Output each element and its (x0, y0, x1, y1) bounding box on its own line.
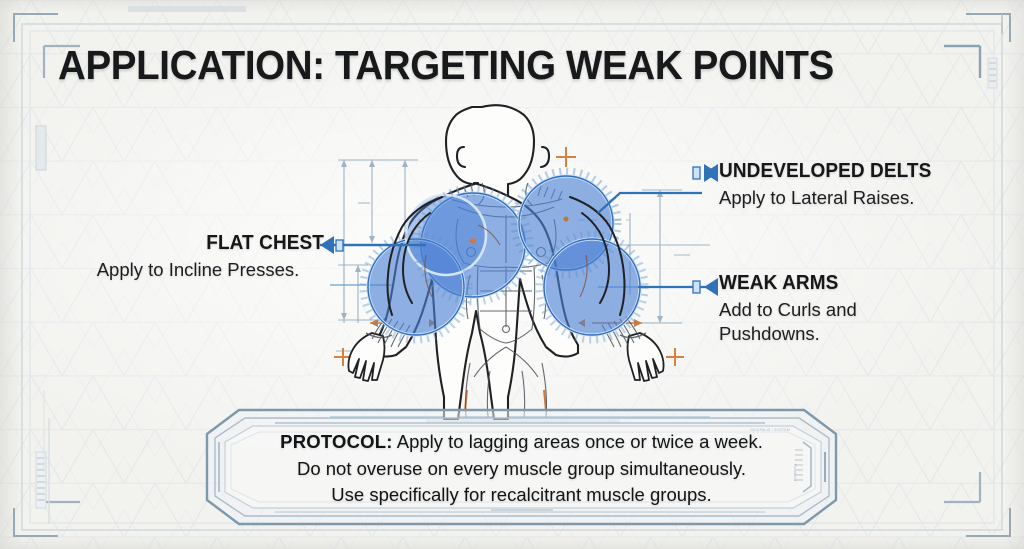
protocol-panel: OCCIPALIS / SYSTEM Fluidbuild PROTOCOL: … (205, 408, 838, 526)
protocol-line-2: Do not overuse on every muscle group sim… (205, 456, 838, 483)
callout-undeveloped-delts: UNDEVELOPED DELTS Apply to Lateral Raise… (719, 160, 1009, 210)
protocol-line-3: Use specifically for recalcitrant muscle… (205, 482, 838, 509)
callout-undeveloped-delts-detail: Apply to Lateral Raises. (719, 186, 1009, 210)
callout-undeveloped-delts-heading: UNDEVELOPED DELTS (719, 160, 995, 183)
protocol-line-1: PROTOCOL: Apply to lagging areas once or… (205, 429, 838, 456)
callout-weak-arms-heading: WEAK ARMS (719, 272, 995, 295)
protocol-line-1-rest: Apply to lagging areas once or twice a w… (393, 431, 763, 452)
callout-flat-chest-heading: FLAT CHEST (85, 232, 324, 255)
callout-weak-arms-detail-line2: Pushdowns. (719, 322, 1009, 346)
callout-weak-arms: WEAK ARMS Add to Curls and Pushdowns. (719, 272, 1009, 346)
callout-weak-arms-detail-line1: Add to Curls and (719, 298, 1009, 322)
page-title: APPLICATION: TARGETING WEAK POINTS (58, 42, 834, 89)
callout-flat-chest-detail: Apply to Incline Presses. (72, 258, 324, 282)
callout-weak-arms-detail: Add to Curls and Pushdowns. (719, 298, 1009, 346)
protocol-text: PROTOCOL: Apply to lagging areas once or… (205, 429, 838, 509)
callout-flat-chest: FLAT CHEST Apply to Incline Presses. (72, 232, 324, 282)
protocol-label: PROTOCOL: (280, 431, 392, 452)
slide-root: APPLICATION: TARGETING WEAK POINTS FLAT … (0, 0, 1024, 549)
